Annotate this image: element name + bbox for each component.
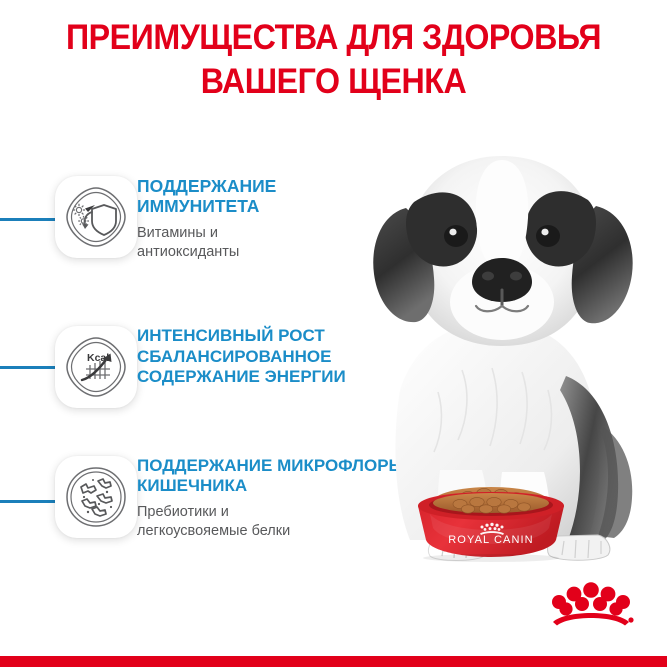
benefit-icon-card: Kcal bbox=[55, 326, 137, 408]
kcal-label: Kcal bbox=[87, 352, 109, 364]
connector-line bbox=[0, 366, 58, 369]
royal-canin-logo bbox=[545, 578, 637, 630]
page-title: ПРЕИМУЩЕСТВА ДЛЯ ЗДОРОВЬЯ ВАШЕГО ЩЕНКА bbox=[27, 16, 641, 104]
connector-line bbox=[0, 218, 58, 221]
page-title-line-1: ПРЕИМУЩЕСТВА ДЛЯ ЗДОРОВЬЯ bbox=[27, 16, 641, 60]
gut-flora-bacteria-icon bbox=[64, 465, 128, 529]
bottom-red-bar bbox=[0, 656, 667, 667]
promo-banner: ПРЕИМУЩЕСТВА ДЛЯ ЗДОРОВЬЯ ВАШЕГО ЩЕНКА bbox=[0, 0, 667, 667]
royal-canin-crown-icon bbox=[545, 578, 637, 630]
page-title-line-2: ВАШЕГО ЩЕНКА bbox=[27, 60, 641, 104]
bowl-wordmark: ROYAL CANIN bbox=[448, 534, 533, 546]
benefit-icon-card bbox=[55, 176, 137, 258]
immunity-shield-icon bbox=[64, 185, 128, 249]
benefit-icon-card bbox=[55, 456, 137, 538]
kcal-growth-chart-icon: Kcal bbox=[64, 335, 128, 399]
connector-line bbox=[0, 500, 58, 503]
dog-food-bowl: ROYAL CANIN bbox=[404, 480, 579, 562]
